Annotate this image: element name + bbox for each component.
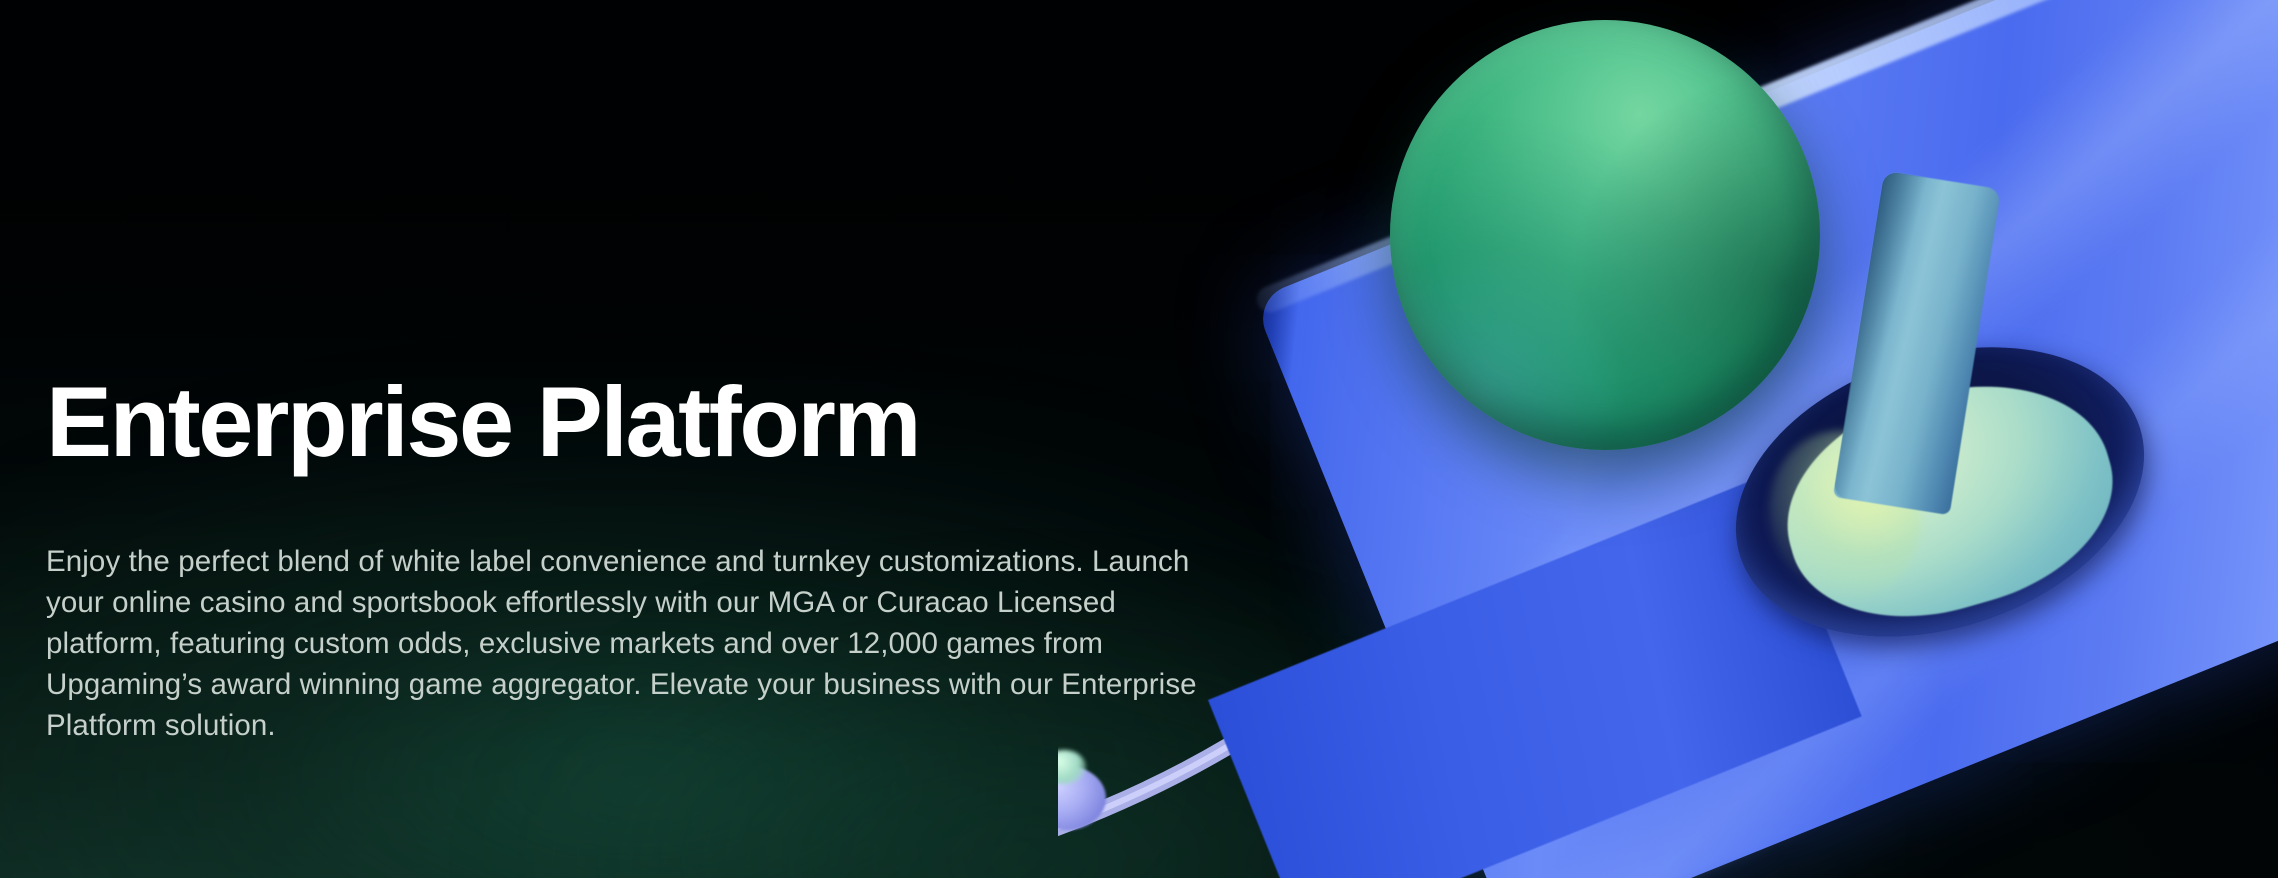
hero-banner: Enterprise Platform Enjoy the perfect bl… [0, 0, 2278, 878]
page-title: Enterprise Platform [46, 372, 1296, 473]
hero-description: Enjoy the perfect blend of white label c… [46, 541, 1211, 746]
hero-copy: Enterprise Platform Enjoy the perfect bl… [46, 372, 1296, 746]
joystick-ball-rim-light [1390, 20, 1820, 450]
hero-description-line: Enjoy the perfect blend of white label c… [46, 545, 1084, 578]
